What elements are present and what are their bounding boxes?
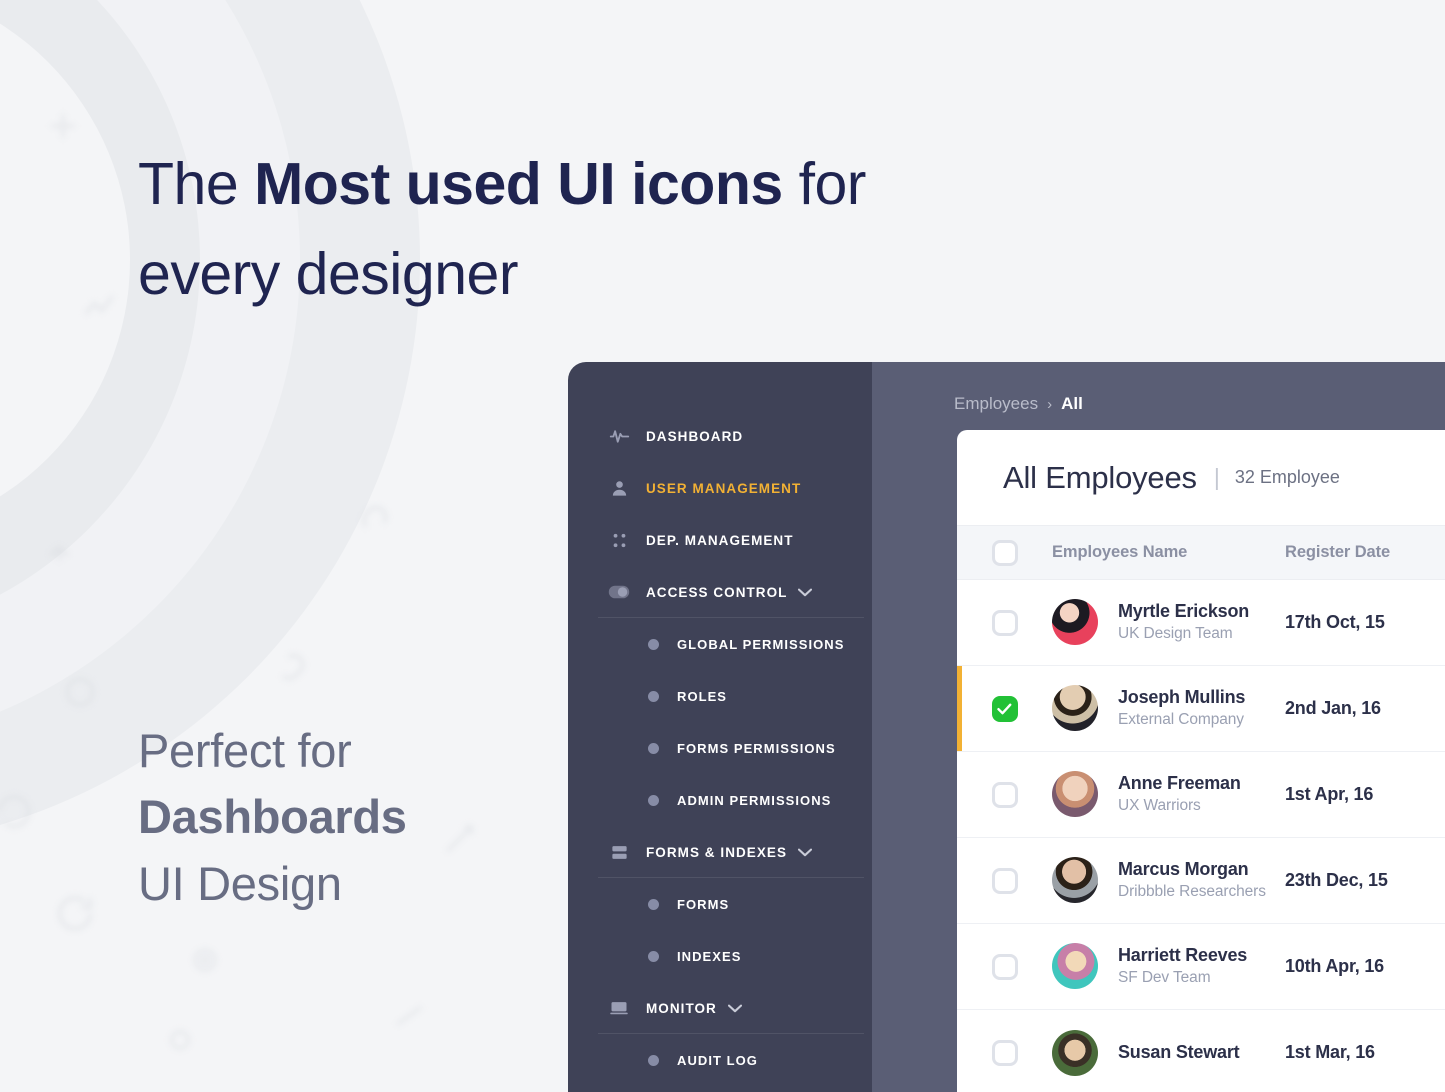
ghost-icon-decoration — [52, 890, 98, 936]
table-row[interactable]: Harriett Reeves SF Dev Team 10th Apr, 16 — [957, 924, 1445, 1010]
headline-text-2: for — [783, 151, 866, 217]
sidebar-item-label: USER MANAGEMENT — [646, 481, 801, 496]
table-row[interactable]: Anne Freeman UX Warriors 1st Apr, 16 — [957, 752, 1445, 838]
avatar — [1052, 1030, 1098, 1076]
avatar — [1052, 685, 1098, 731]
ghost-icon-decoration — [268, 650, 312, 694]
grid-dots-icon — [608, 529, 630, 551]
row-checkbox[interactable] — [992, 868, 1018, 894]
bullet-dot-icon — [648, 1055, 659, 1066]
background-arc — [0, 0, 130, 540]
ghost-icon-decoration — [42, 105, 84, 147]
table-header-row: Employees Name Register Date — [957, 525, 1445, 580]
ghost-icon-decoration — [440, 820, 482, 862]
employee-name: Susan Stewart — [1118, 1040, 1239, 1064]
register-date: 1st Mar, 16 — [1285, 1042, 1375, 1062]
employee-team: Dribbble Researchers — [1118, 881, 1266, 903]
table-row[interactable]: Myrtle Erickson UK Design Team 17th Oct,… — [957, 580, 1445, 666]
page-title: All Employees — [1003, 460, 1197, 496]
row-checkbox-cell[interactable] — [957, 1040, 1052, 1066]
employee-name: Joseph Mullins — [1118, 685, 1245, 709]
chevron-down-icon[interactable] — [798, 588, 812, 597]
row-date-cell: 2nd Jan, 16 — [1285, 698, 1445, 719]
sidebar-subitem-label: FORMS PERMISSIONS — [677, 741, 836, 756]
sidebar-subitem-label: AUDIT LOG — [677, 1053, 758, 1068]
card-header: All Employees | 32 Employee — [957, 430, 1445, 525]
sidebar-subitem-global-permissions[interactable]: GLOBAL PERMISSIONS — [568, 618, 872, 670]
employee-team: External Company — [1118, 709, 1245, 731]
table-row[interactable]: Joseph Mullins External Company 2nd Jan,… — [957, 666, 1445, 752]
subcopy-line-bold: Dashboards — [138, 790, 407, 843]
sidebar-item-dashboard[interactable]: DASHBOARD — [568, 410, 872, 462]
employee-team: UX Warriors — [1118, 795, 1241, 817]
ghost-icon-decoration — [160, 1020, 200, 1060]
row-checkbox-cell[interactable] — [957, 696, 1052, 722]
row-checkbox-cell[interactable] — [957, 868, 1052, 894]
row-checkbox-cell[interactable] — [957, 954, 1052, 980]
bullet-dot-icon — [648, 743, 659, 754]
title-divider: | — [1214, 464, 1220, 491]
headline-text-bold: Most used UI icons — [254, 151, 783, 217]
column-header-name: Employees Name — [1052, 543, 1187, 562]
breadcrumb-current: All — [1061, 394, 1083, 414]
bullet-dot-icon — [648, 951, 659, 962]
subcopy-line-3: UI Design — [138, 857, 342, 910]
sidebar-item-label: FORMS & INDEXES — [646, 845, 787, 860]
chevron-down-icon[interactable] — [728, 1004, 742, 1013]
sidebar-navigation: DASHBOARD USER MANAGEMENT DEP. MANAGEMEN… — [568, 362, 872, 1092]
employee-count: 32 Employee — [1235, 467, 1340, 488]
register-date: 17th Oct, 15 — [1285, 612, 1385, 632]
ghost-icon-decoration — [390, 1000, 432, 1042]
sidebar-item-dep-management[interactable]: DEP. MANAGEMENT — [568, 514, 872, 566]
row-checkbox-cell[interactable] — [957, 610, 1052, 636]
row-date-cell: 17th Oct, 15 — [1285, 612, 1445, 633]
bullet-dot-icon — [648, 691, 659, 702]
chevron-down-icon[interactable] — [798, 848, 812, 857]
register-date: 10th Apr, 16 — [1285, 956, 1384, 976]
sidebar-item-label: DASHBOARD — [646, 429, 743, 444]
sidebar-item-user-management[interactable]: USER MANAGEMENT — [568, 462, 872, 514]
ghost-icon-decoration — [355, 498, 401, 544]
row-checkbox-cell[interactable] — [957, 782, 1052, 808]
sidebar-subitem-indexes[interactable]: INDEXES — [568, 930, 872, 982]
sidebar-item-label: MONITOR — [646, 1001, 717, 1016]
column-header-date: Register Date — [1285, 543, 1390, 561]
content-area: Employees › All All Employees | 32 Emplo… — [872, 362, 1445, 1092]
ghost-icon-decoration — [36, 542, 82, 588]
sidebar-subitem-admin-permissions[interactable]: ADMIN PERMISSIONS — [568, 774, 872, 826]
toggle-icon — [608, 581, 630, 603]
row-checkbox[interactable] — [992, 610, 1018, 636]
avatar — [1052, 857, 1098, 903]
table-row[interactable]: Marcus Morgan Dribbble Researchers 23th … — [957, 838, 1445, 924]
sidebar-subitem-label: ADMIN PERMISSIONS — [677, 793, 831, 808]
register-date: 2nd Jan, 16 — [1285, 698, 1381, 718]
register-date: 23th Dec, 15 — [1285, 870, 1388, 890]
bullet-dot-icon — [648, 795, 659, 806]
bullet-dot-icon — [648, 899, 659, 910]
avatar — [1052, 943, 1098, 989]
avatar — [1052, 599, 1098, 645]
employee-team: UK Design Team — [1118, 623, 1249, 645]
user-icon — [608, 477, 630, 499]
row-name-cell: Joseph Mullins External Company — [1052, 685, 1285, 732]
row-name-cell: Anne Freeman UX Warriors — [1052, 771, 1285, 818]
breadcrumb-root[interactable]: Employees — [954, 394, 1038, 414]
avatar — [1052, 771, 1098, 817]
row-date-cell: 1st Mar, 16 — [1285, 1042, 1445, 1063]
row-date-cell: 10th Apr, 16 — [1285, 956, 1445, 977]
employee-name: Marcus Morgan — [1118, 857, 1266, 881]
row-checkbox[interactable] — [992, 1040, 1018, 1066]
row-name-cell: Myrtle Erickson UK Design Team — [1052, 599, 1285, 646]
app-window: DASHBOARD USER MANAGEMENT DEP. MANAGEMEN… — [568, 362, 1445, 1092]
row-checkbox-checked[interactable] — [992, 696, 1018, 722]
sidebar-item-label: ACCESS CONTROL — [646, 585, 787, 600]
sidebar-item-label: DEP. MANAGEMENT — [646, 533, 794, 548]
row-name-cell: Susan Stewart — [1052, 1030, 1285, 1076]
sidebar-subitem-label: GLOBAL PERMISSIONS — [677, 637, 844, 652]
sidebar-item-monitor[interactable]: MONITOR — [568, 982, 872, 1034]
employee-name: Anne Freeman — [1118, 771, 1241, 795]
ghost-icon-decoration — [58, 670, 102, 714]
subcopy-line-1: Perfect for — [138, 724, 352, 777]
background-arc — [0, 0, 200, 640]
employees-card: All Employees | 32 Employee Employees Na… — [957, 430, 1445, 1092]
forms-layers-icon — [608, 841, 630, 863]
table-row[interactable]: Susan Stewart 1st Mar, 16 — [957, 1010, 1445, 1092]
sidebar-item-forms-and-indexes[interactable]: FORMS & INDEXES — [568, 826, 872, 878]
ghost-icon-decoration — [185, 940, 225, 980]
breadcrumb-separator-icon: › — [1047, 396, 1052, 413]
row-checkbox[interactable] — [992, 954, 1018, 980]
sidebar-subitem-audit-log[interactable]: AUDIT LOG — [568, 1034, 872, 1086]
employee-name: Myrtle Erickson — [1118, 599, 1249, 623]
background-arc — [0, 0, 300, 750]
sidebar-subitem-forms[interactable]: FORMS — [568, 878, 872, 930]
bullet-dot-icon — [648, 639, 659, 650]
select-all-checkbox-cell[interactable] — [957, 540, 1052, 566]
ghost-icon-decoration — [0, 790, 36, 834]
sidebar-subitem-forms-permissions[interactable]: FORMS PERMISSIONS — [568, 722, 872, 774]
column-header-name-cell[interactable]: Employees Name — [1052, 543, 1285, 562]
ghost-icon-decoration — [78, 285, 122, 329]
sidebar-subitem-label: FORMS — [677, 897, 729, 912]
sidebar-subitem-label: INDEXES — [677, 949, 741, 964]
register-date: 1st Apr, 16 — [1285, 784, 1373, 804]
employee-team: SF Dev Team — [1118, 967, 1247, 989]
page-headline: The Most used UI icons for every designe… — [138, 140, 1118, 319]
employee-name: Harriett Reeves — [1118, 943, 1247, 967]
column-header-date-cell[interactable]: Register Date — [1285, 543, 1445, 562]
select-all-checkbox[interactable] — [992, 540, 1018, 566]
row-name-cell: Harriett Reeves SF Dev Team — [1052, 943, 1285, 990]
row-date-cell: 23th Dec, 15 — [1285, 870, 1445, 891]
checkmark-icon — [997, 703, 1012, 715]
sidebar-item-access-control[interactable]: ACCESS CONTROL — [568, 566, 872, 618]
activity-pulse-icon — [608, 425, 630, 447]
row-name-cell: Marcus Morgan Dribbble Researchers — [1052, 857, 1285, 904]
page-subcopy: Perfect for Dashboards UI Design — [138, 718, 407, 917]
row-checkbox[interactable] — [992, 782, 1018, 808]
headline-text-line2: every designer — [138, 241, 518, 307]
sidebar-subitem-label: ROLES — [677, 689, 727, 704]
headline-text-1: The — [138, 151, 254, 217]
row-date-cell: 1st Apr, 16 — [1285, 784, 1445, 805]
sidebar-subitem-roles[interactable]: ROLES — [568, 670, 872, 722]
breadcrumb: Employees › All — [872, 394, 1445, 414]
monitor-screen-icon — [608, 997, 630, 1019]
